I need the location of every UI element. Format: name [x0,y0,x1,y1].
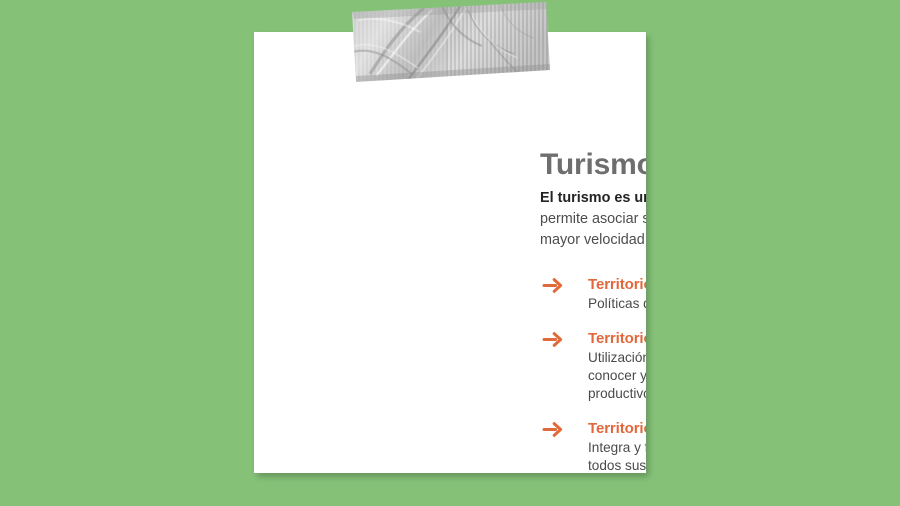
slide-stage: Turismo y Desarrollo El turismo es una p… [0,0,900,506]
arrow-right-icon [542,421,564,438]
list-item-heading: Territorios sinérgicos [588,329,646,348]
list-item: Territorios productivos Políticas de fom… [540,275,646,313]
page-title: Turismo y Desarrollo [540,148,646,182]
intro-paragraph: El turismo es una poderosa plataforma qu… [540,188,646,251]
bullet-list: Territorios productivos Políticas de fom… [540,275,646,473]
list-item-heading: Territorios productivos [588,275,646,294]
list-item-heading: Territorios responsables [588,419,646,438]
list-item: Territorios sinérgicos Utilización de la… [540,329,646,403]
list-item-description: Integra y facilita la dinamización y der… [588,439,646,473]
list-item-description: Utilización de la ventana turística para… [588,349,646,403]
arrow-right-icon [542,331,564,348]
arrow-right-icon [542,277,564,294]
list-item: Territorios responsables Integra y facil… [540,419,646,473]
intro-strong-text: El turismo es una poderosa plataforma [540,190,646,206]
slide-card: Turismo y Desarrollo El turismo es una p… [254,32,646,473]
list-item-description: Políticas de fomento productivo. [588,295,646,313]
